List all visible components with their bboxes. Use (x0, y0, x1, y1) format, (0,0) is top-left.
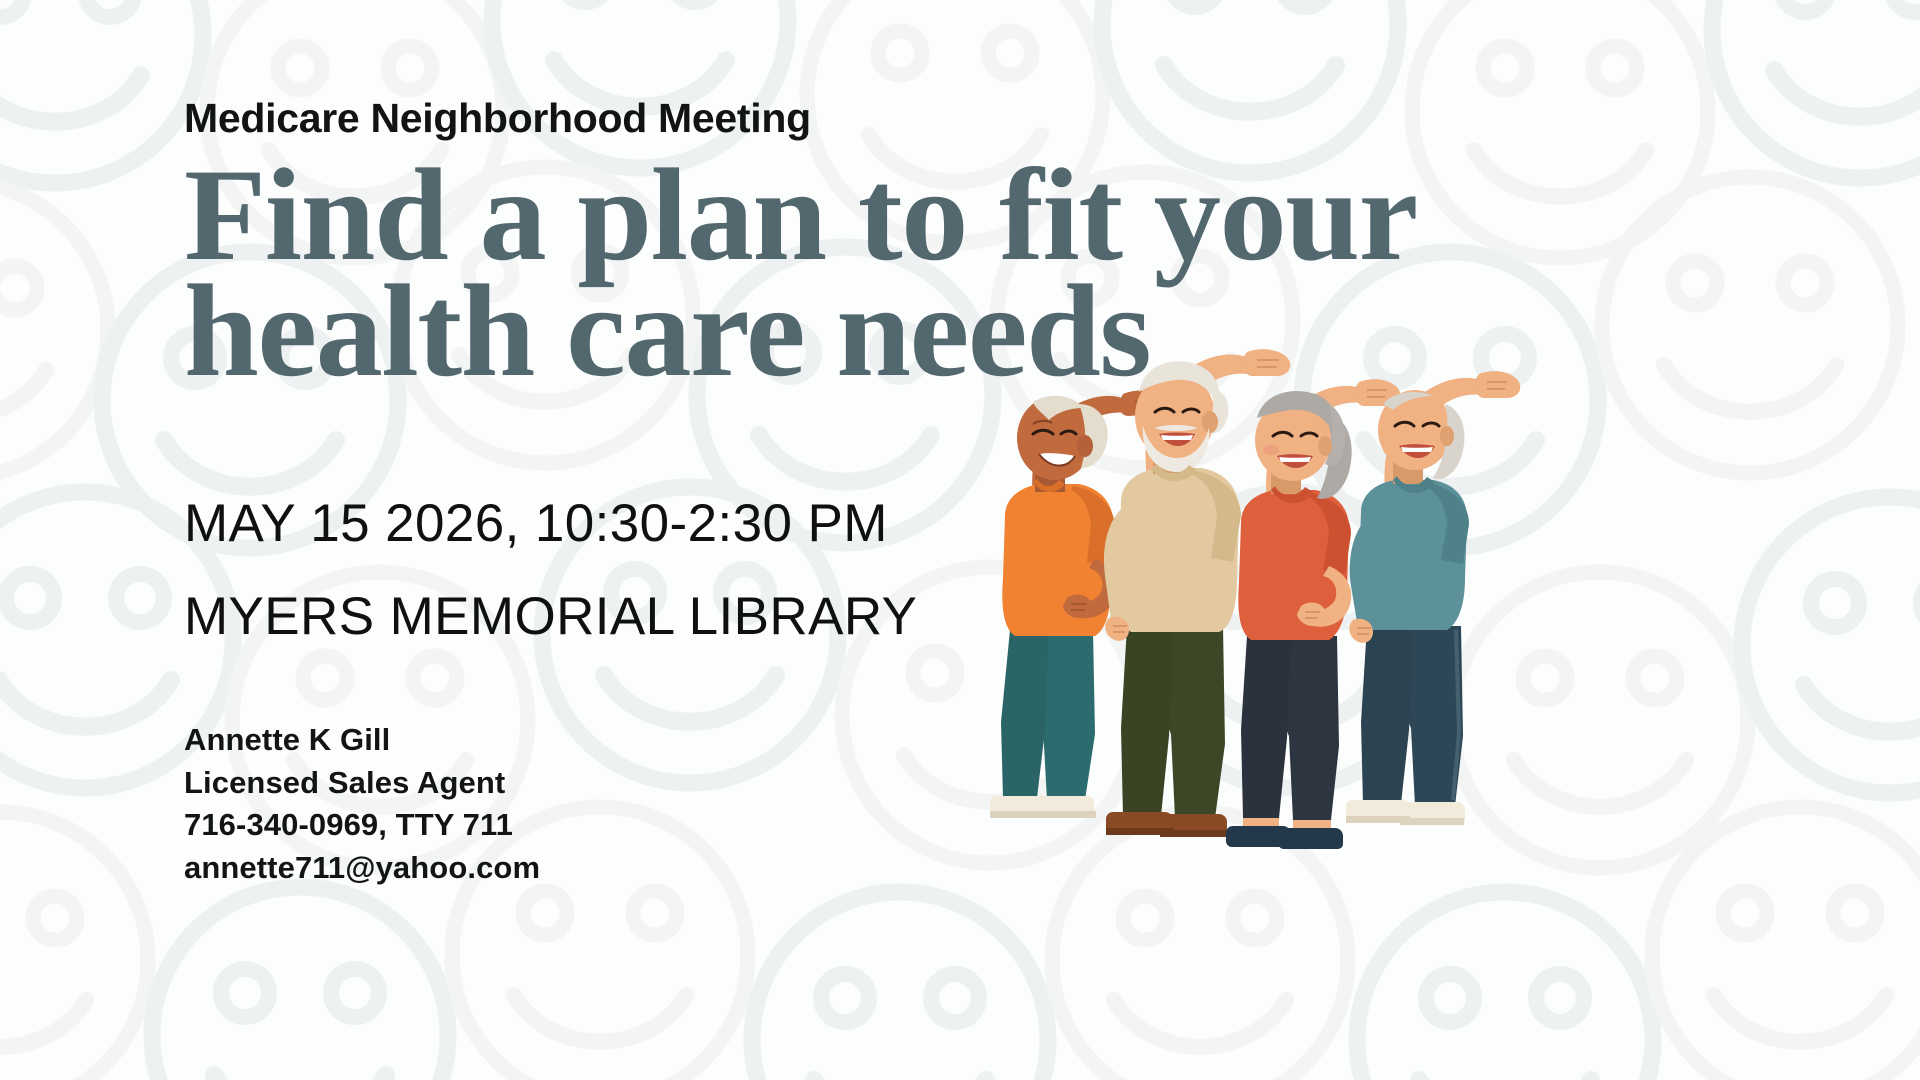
agent-name: Annette K Gill (184, 719, 1334, 761)
senior-figure-4 (1346, 371, 1520, 825)
headline-line-1: Find a plan to fit your (184, 157, 1357, 273)
event-datetime: MAY 15 2026, 10:30-2:30 PM (184, 497, 1334, 550)
event-details: MAY 15 2026, 10:30-2:30 PM MYERS MEMORIA… (184, 497, 1334, 643)
headline-line-2: health care needs (184, 273, 1357, 389)
agent-contact-block: Annette K Gill Licensed Sales Agent 716-… (184, 719, 1334, 889)
agent-email: annette711@yahoo.com (184, 847, 1334, 889)
agent-role: Licensed Sales Agent (184, 762, 1334, 804)
flyer-text-column: Medicare Neighborhood Meeting Find a pla… (184, 96, 1334, 889)
medicare-meeting-flyer: Medicare Neighborhood Meeting Find a pla… (0, 0, 1920, 1080)
agent-phone: 716-340-0969, TTY 711 (184, 804, 1334, 846)
page-title: Find a plan to fit your health care need… (184, 157, 1357, 389)
event-venue: MYERS MEMORIAL LIBRARY (184, 590, 1334, 643)
eyebrow-text: Medicare Neighborhood Meeting (184, 96, 1334, 141)
